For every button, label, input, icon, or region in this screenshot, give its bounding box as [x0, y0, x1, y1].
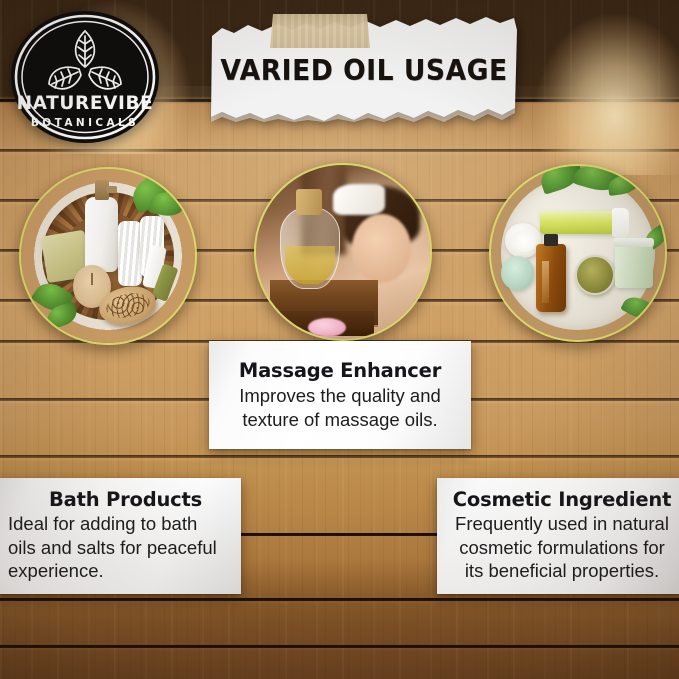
massage-enhancer-card: Massage Enhancer Improves the quality an… [209, 341, 471, 449]
infographic-canvas: NATUREVIBE BOTANICALS VARIED OIL USAGE [0, 0, 679, 679]
cork-stopper [296, 189, 322, 215]
card-body-line: oils and salts for peaceful [0, 536, 217, 560]
card-body-line: texture of massage oils. [219, 408, 461, 432]
face [352, 214, 411, 284]
plank-seam [0, 455, 679, 458]
oil-tube [540, 211, 617, 234]
card-heading: Bath Products [0, 487, 233, 512]
bath-products-photo [19, 167, 197, 345]
massage-photo [254, 163, 432, 341]
bath-products-card: Bath Products Ideal for adding to bath o… [0, 478, 241, 594]
card-body-line: Ideal for adding to bath [0, 512, 197, 536]
cosmetic-ingredient-card: Cosmetic Ingredient Frequently used in n… [437, 478, 679, 594]
plank-seam [0, 598, 679, 601]
brand-logo: NATUREVIBE BOTANICALS [9, 9, 161, 146]
card-heading: Cosmetic Ingredient [445, 487, 679, 512]
title-banner: VARIED OIL USAGE [208, 14, 520, 122]
cosmetic-photo [489, 164, 667, 342]
card-body-line: Improves the quality and [219, 384, 461, 408]
masking-tape-icon [270, 14, 370, 48]
cream-jar-green [501, 256, 534, 289]
plank-seam [0, 149, 679, 152]
clay-mask-jar [575, 255, 615, 295]
plank-seam [0, 645, 679, 648]
page-title: VARIED OIL USAGE [219, 54, 509, 87]
card-body-line: its beneficial properties. [445, 559, 679, 583]
amber-bottle [536, 244, 566, 312]
logo-wordmark: NATUREVIBE [17, 93, 154, 114]
card-heading: Massage Enhancer [219, 358, 461, 383]
card-body-line: Frequently used in natural [445, 512, 679, 536]
balm-jar [615, 243, 653, 288]
card-body-line: experience. [0, 559, 104, 583]
logo-tagline: BOTANICALS [31, 117, 139, 129]
card-body-line: cosmetic formulations for [445, 536, 679, 560]
rolled-towel [118, 221, 141, 285]
spa-towel [333, 184, 385, 215]
lotion-bottle [85, 197, 118, 272]
oil-jug [280, 207, 339, 289]
